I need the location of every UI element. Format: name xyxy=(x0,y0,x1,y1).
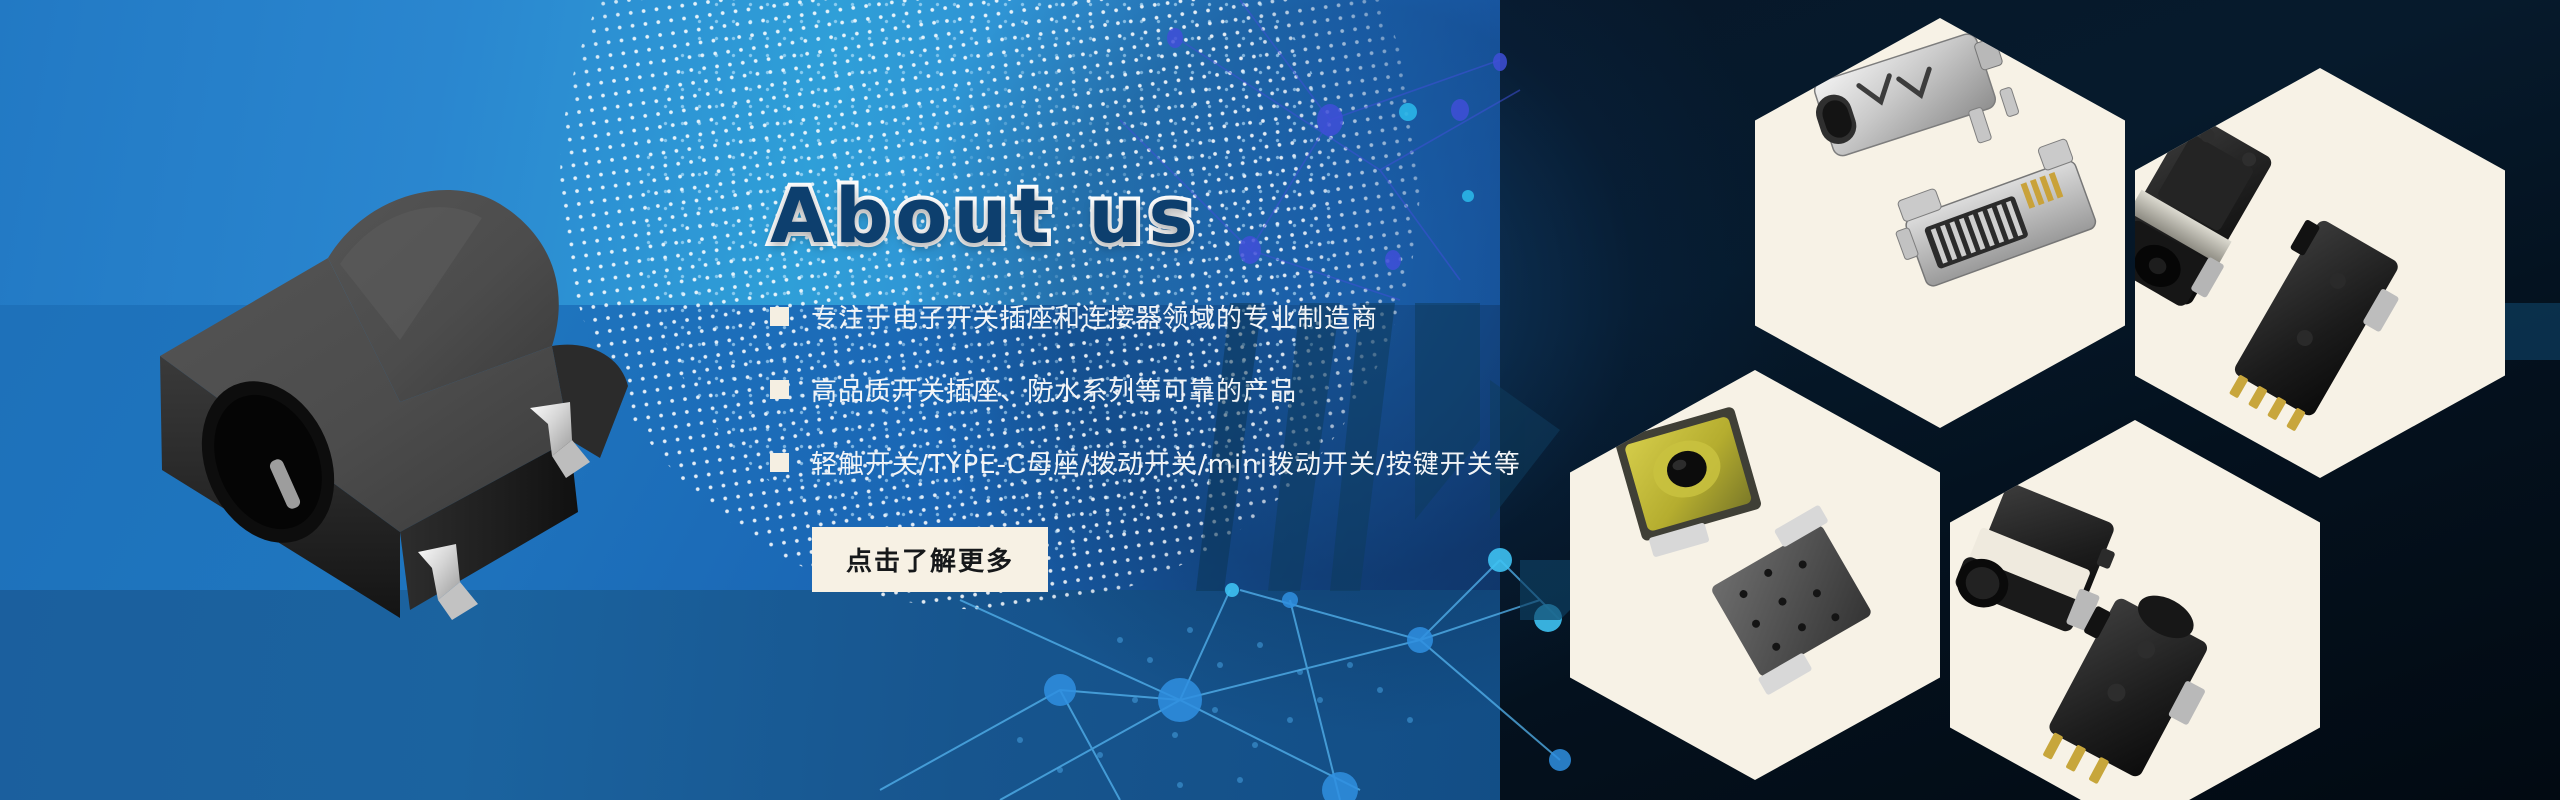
page-title: About us xyxy=(770,176,1530,256)
about-us-banner: About us 专注于电子开关插座和连接器领域的专业制造商 高品质开关插座、防… xyxy=(0,0,2560,800)
list-item-label: 高品质开关插座、防水系列等可靠的产品 xyxy=(811,371,1297,408)
hero-product-dc-power-jack xyxy=(100,140,700,660)
banner-content: About us 专注于电子开关插座和连接器领域的专业制造商 高品质开关插座、防… xyxy=(770,176,1530,592)
square-bullet-icon xyxy=(770,380,789,399)
feature-list: 专注于电子开关插座和连接器领域的专业制造商 高品质开关插座、防水系列等可靠的产品… xyxy=(770,298,1530,481)
list-item: 高品质开关插座、防水系列等可靠的产品 xyxy=(770,371,1530,408)
list-item: 专注于电子开关插座和连接器领域的专业制造商 xyxy=(770,298,1530,335)
list-item-label: 专注于电子开关插座和连接器领域的专业制造商 xyxy=(811,298,1378,335)
list-item: 轻触开关/TYPE-C母座/拨动开关/mini拨动开关/按键开关等 xyxy=(770,444,1530,481)
learn-more-button[interactable]: 点击了解更多 xyxy=(812,527,1048,592)
square-bullet-icon xyxy=(770,453,789,472)
square-bullet-icon xyxy=(770,307,789,326)
list-item-label: 轻触开关/TYPE-C母座/拨动开关/mini拨动开关/按键开关等 xyxy=(811,444,1521,481)
